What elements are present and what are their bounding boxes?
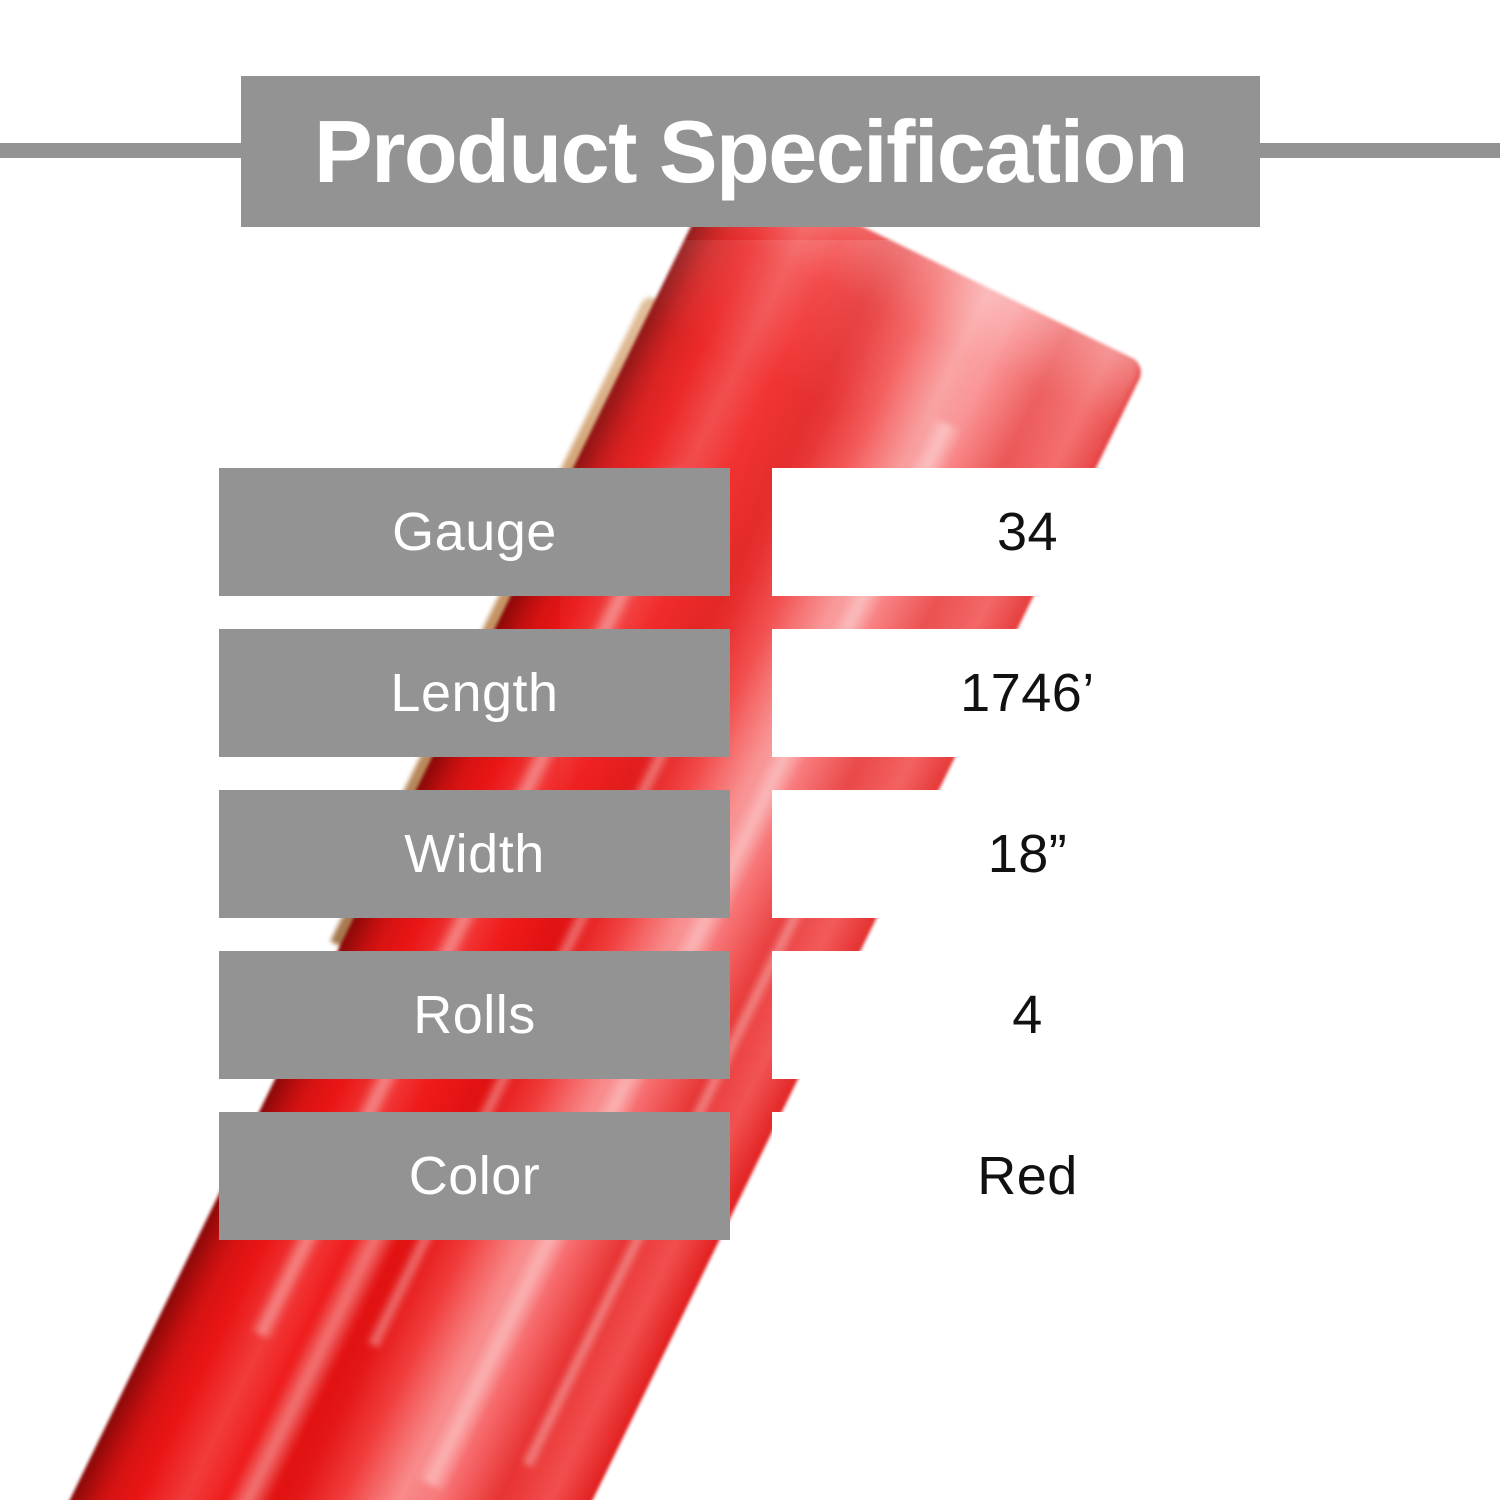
spec-label-text: Width [404, 827, 545, 881]
spec-label-text: Color [409, 1149, 541, 1203]
spec-label-text: Rolls [413, 988, 536, 1042]
spec-label-text: Gauge [392, 505, 557, 559]
spec-value-length: 1746’ [772, 629, 1283, 757]
product-spec-canvas: Product Specification Gauge 34 Length 17… [0, 0, 1500, 1500]
spec-label-color: Color [219, 1112, 730, 1240]
spec-value-text: 34 [997, 505, 1058, 559]
spec-value-text: 18” [988, 827, 1068, 881]
specification-table: Gauge 34 Length 1746’ Width 18” Rol [219, 468, 1283, 1240]
spec-value-text: Red [977, 1149, 1078, 1203]
spec-label-gauge: Gauge [219, 468, 730, 596]
title-banner: Product Specification [241, 76, 1260, 227]
spec-value-text: 4 [1012, 988, 1043, 1042]
spec-value-text: 1746’ [960, 666, 1095, 720]
table-row: Color Red [219, 1112, 1283, 1240]
spec-value-width: 18” [772, 790, 1283, 918]
table-row: Gauge 34 [219, 468, 1283, 596]
table-row: Length 1746’ [219, 629, 1283, 757]
spec-label-length: Length [219, 629, 730, 757]
spec-label-width: Width [219, 790, 730, 918]
page-title: Product Specification [314, 108, 1187, 196]
spec-label-rolls: Rolls [219, 951, 730, 1079]
spec-value-color: Red [772, 1112, 1283, 1240]
spec-label-text: Length [390, 666, 558, 720]
spec-value-gauge: 34 [772, 468, 1283, 596]
table-row: Rolls 4 [219, 951, 1283, 1079]
table-row: Width 18” [219, 790, 1283, 918]
spec-value-rolls: 4 [772, 951, 1283, 1079]
